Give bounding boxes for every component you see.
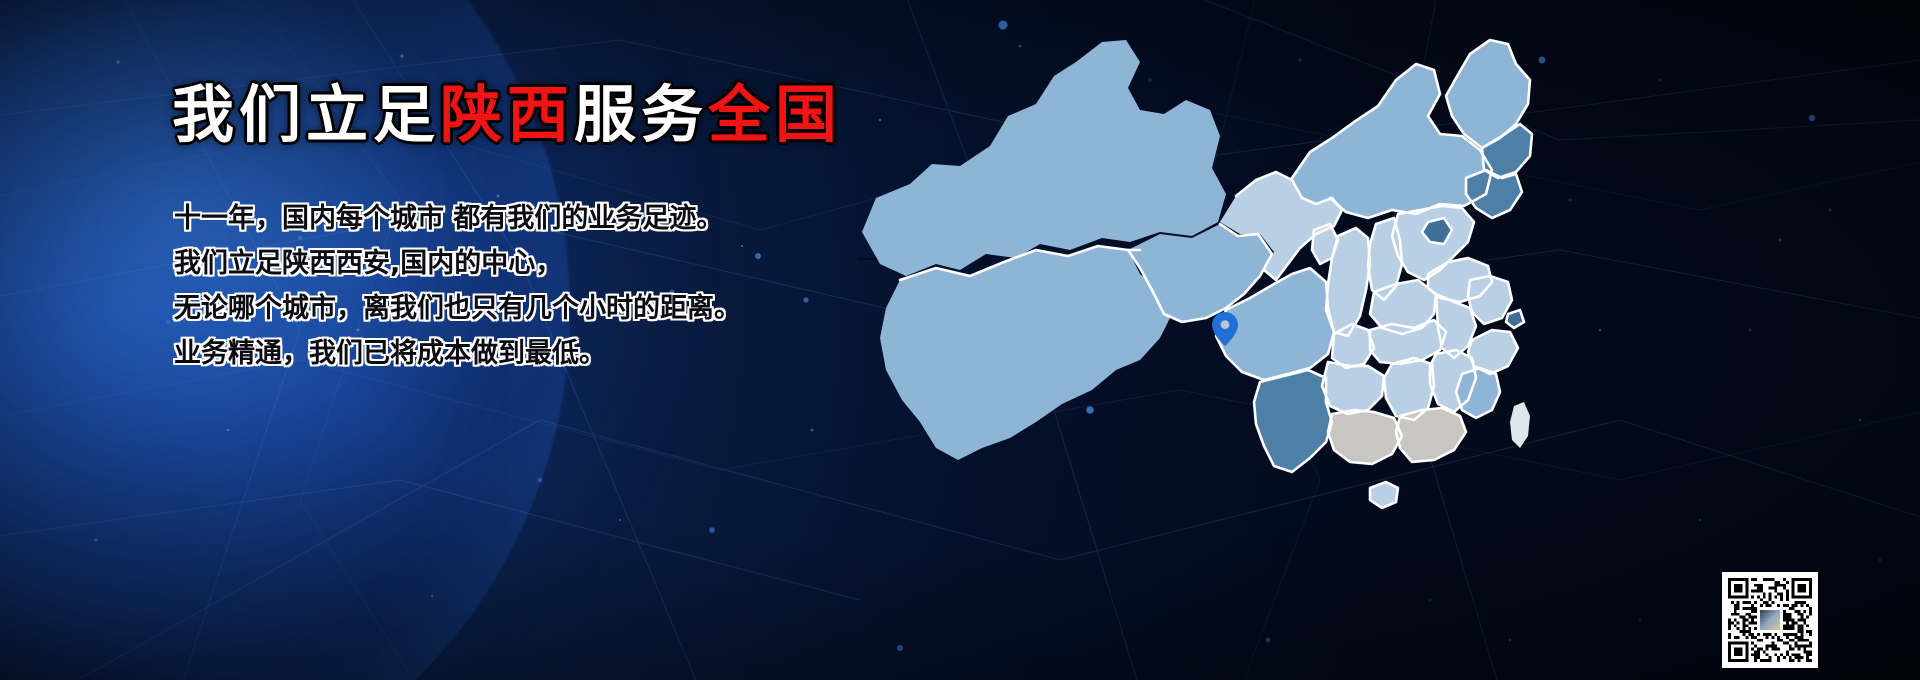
qr-code[interactable] bbox=[1722, 572, 1818, 668]
body-line-2: 我们立足陕西西安,国内的中心， bbox=[174, 241, 741, 286]
body-copy: 十一年，国内每个城市 都有我们的业务足迹。 我们立足陕西西安,国内的中心， 无论… bbox=[174, 196, 741, 376]
china-map bbox=[840, 18, 1540, 558]
province-tibet bbox=[880, 246, 1172, 460]
body-line-1: 十一年，国内每个城市 都有我们的业务足迹。 bbox=[174, 196, 741, 241]
headline-segment-3: 服务 bbox=[574, 78, 708, 151]
headline-segment-2: 陕西 bbox=[440, 78, 574, 151]
headline-segment-1: 我们立足 bbox=[172, 78, 440, 151]
page-title: 我们立足陕西服务全国 bbox=[172, 84, 842, 146]
promo-banner: 我们立足陕西服务全国 十一年，国内每个城市 都有我们的业务足迹。 我们立足陕西西… bbox=[0, 0, 1920, 680]
map-location-pin-icon[interactable] bbox=[1212, 312, 1238, 346]
body-line-3: 无论哪个城市，离我们也只有几个小时的距离。 bbox=[174, 286, 741, 331]
province-yunnan bbox=[1254, 370, 1332, 472]
headline-segment-4: 全国 bbox=[708, 78, 842, 151]
body-line-4: 业务精通，我们已将成本做到最低。 bbox=[174, 331, 741, 376]
province-taiwan bbox=[1510, 402, 1530, 448]
qr-code-canvas bbox=[1728, 578, 1812, 662]
